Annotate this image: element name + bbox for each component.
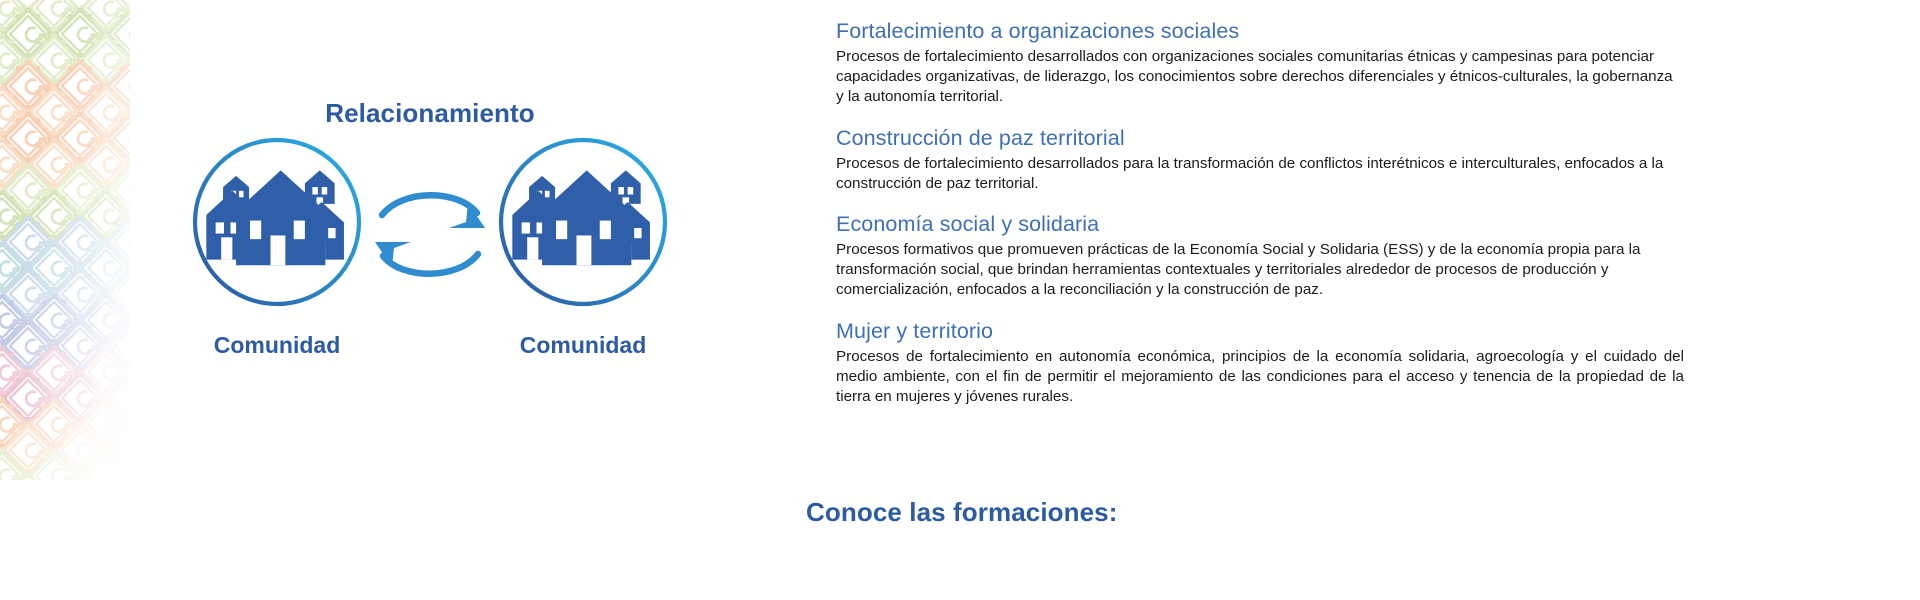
section-body: Procesos de fortalecimiento desarrollado… bbox=[836, 47, 1684, 108]
ornament-pattern-svg bbox=[0, 0, 130, 480]
section-body: Procesos formativos que promueven prácti… bbox=[836, 240, 1684, 301]
content-column: Fortalecimiento a organizaciones sociale… bbox=[836, 18, 1684, 424]
section-body: Procesos de fortalecimiento desarrollado… bbox=[836, 154, 1684, 194]
section-heading: Mujer y territorio bbox=[836, 318, 1684, 346]
section-economia-social: Economía social y solidaria Procesos for… bbox=[836, 211, 1684, 301]
community-label-left: Comunidad bbox=[162, 332, 392, 359]
community-label-right: Comunidad bbox=[468, 332, 698, 359]
community-circle-right bbox=[501, 140, 665, 304]
exchange-arrows-icon bbox=[382, 195, 478, 274]
relationship-diagram: Relacionamiento bbox=[150, 60, 710, 380]
exchange-arrowheads-icon bbox=[375, 203, 485, 267]
section-heading: Fortalecimiento a organizaciones sociale… bbox=[836, 18, 1684, 46]
section-body: Procesos de fortalecimiento en autonomía… bbox=[836, 347, 1684, 408]
formations-heading: Conoce las formaciones: bbox=[806, 497, 1118, 528]
section-mujer-territorio: Mujer y territorio Procesos de fortaleci… bbox=[836, 318, 1684, 408]
section-fortalecimiento: Fortalecimiento a organizaciones sociale… bbox=[836, 18, 1684, 108]
section-heading: Construcción de paz territorial bbox=[836, 125, 1684, 153]
section-construccion-paz: Construcción de paz territorial Procesos… bbox=[836, 125, 1684, 194]
community-circle-left bbox=[195, 140, 359, 304]
ornament-pattern bbox=[0, 0, 130, 480]
section-heading: Economía social y solidaria bbox=[836, 211, 1684, 239]
